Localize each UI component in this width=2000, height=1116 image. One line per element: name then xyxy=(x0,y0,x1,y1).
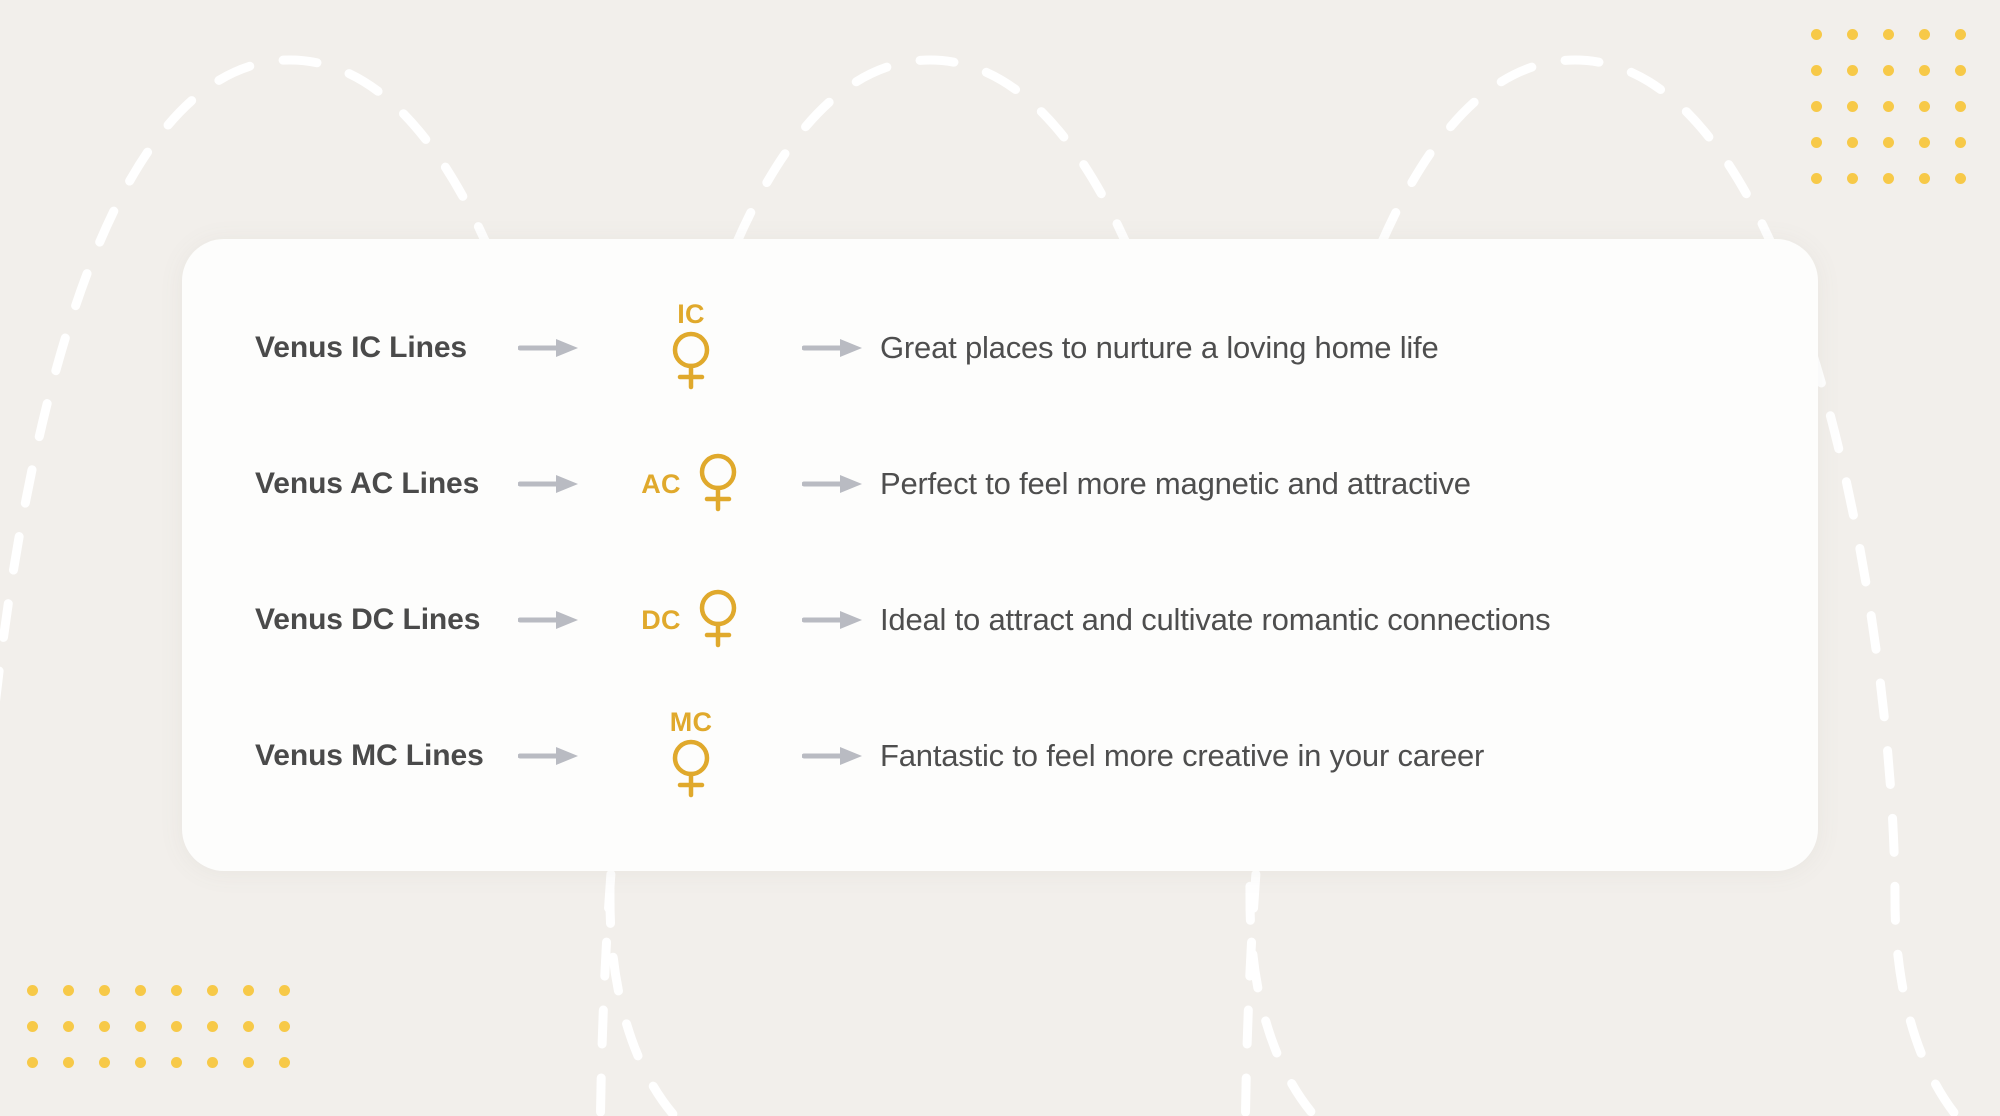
decorative-dot xyxy=(1811,65,1822,76)
decorative-dot xyxy=(99,985,110,996)
decorative-dot xyxy=(1847,29,1858,40)
decorative-dot xyxy=(1919,65,1930,76)
row-description-ac: Perfect to feel more magnetic and attrac… xyxy=(880,466,1471,502)
decorative-dot xyxy=(135,1021,146,1032)
decorative-dot xyxy=(135,985,146,996)
decorative-dot xyxy=(243,985,254,996)
decorative-dot xyxy=(1919,173,1930,184)
decorative-dot xyxy=(1919,101,1930,112)
row-label-mc: Venus MC Lines xyxy=(182,739,502,773)
decorative-dot xyxy=(279,1021,290,1032)
arrow-right-icon xyxy=(502,335,596,361)
dot-grid-top-right xyxy=(1798,16,1978,196)
row-label-ic: Venus IC Lines xyxy=(182,331,502,365)
arrow-right-icon xyxy=(502,607,596,633)
decorative-dot xyxy=(1883,65,1894,76)
row-label-ac: Venus AC Lines xyxy=(182,467,502,501)
table-row: Venus AC Lines AC xyxy=(182,416,1818,552)
decorative-dot xyxy=(27,1021,38,1032)
arrow-right-icon xyxy=(502,471,596,497)
decorative-dot xyxy=(63,985,74,996)
decorative-dot xyxy=(1883,101,1894,112)
glyph-cell-ic: IC xyxy=(596,301,786,396)
decorative-dot xyxy=(243,1021,254,1032)
angle-code-ac: AC xyxy=(641,471,681,498)
arrow-right-icon xyxy=(786,335,880,361)
decorative-dot xyxy=(27,985,38,996)
decorative-dot xyxy=(1919,137,1930,148)
row-description-mc: Fantastic to feel more creative in your … xyxy=(880,738,1484,774)
dot-grid-bottom-left xyxy=(14,972,302,1080)
table-row: Venus DC Lines DC xyxy=(182,552,1818,688)
decorative-dot xyxy=(1847,65,1858,76)
decorative-dot xyxy=(1811,173,1822,184)
venus-symbol-icon xyxy=(695,451,741,518)
angle-code-dc: DC xyxy=(641,607,681,634)
decorative-dot xyxy=(1955,137,1966,148)
decorative-dot xyxy=(99,1057,110,1068)
decorative-dot xyxy=(1955,29,1966,40)
decorative-dot xyxy=(171,1021,182,1032)
table-row: Venus MC Lines MC xyxy=(182,688,1818,824)
decorative-dot xyxy=(99,1021,110,1032)
arrow-right-icon xyxy=(502,743,596,769)
venus-lines-card: Venus IC Lines IC xyxy=(182,239,1818,871)
arrow-right-icon xyxy=(786,471,880,497)
decorative-dot xyxy=(1919,29,1930,40)
arrow-right-icon xyxy=(786,743,880,769)
decorative-dot xyxy=(63,1057,74,1068)
glyph-cell-ac: AC xyxy=(596,451,786,518)
decorative-dot xyxy=(63,1021,74,1032)
decorative-dot xyxy=(171,985,182,996)
decorative-dot xyxy=(27,1057,38,1068)
decorative-dot xyxy=(171,1057,182,1068)
row-label-dc: Venus DC Lines xyxy=(182,603,502,637)
decorative-dot xyxy=(1883,29,1894,40)
venus-symbol-icon xyxy=(668,329,714,396)
decorative-dot xyxy=(135,1057,146,1068)
venus-symbol-icon xyxy=(668,737,714,804)
arrow-right-icon xyxy=(786,607,880,633)
glyph-cell-mc: MC xyxy=(596,709,786,804)
angle-code-mc: MC xyxy=(670,709,713,736)
decorative-dot xyxy=(279,985,290,996)
decorative-dot xyxy=(1811,29,1822,40)
decorative-dot xyxy=(1811,137,1822,148)
decorative-dot xyxy=(279,1057,290,1068)
venus-symbol-icon xyxy=(695,587,741,654)
decorative-dot xyxy=(243,1057,254,1068)
decorative-dot xyxy=(1811,101,1822,112)
decorative-dot xyxy=(1883,137,1894,148)
decorative-dot xyxy=(1847,101,1858,112)
decorative-dot xyxy=(207,985,218,996)
glyph-cell-dc: DC xyxy=(596,587,786,654)
decorative-dot xyxy=(207,1021,218,1032)
row-description-ic: Great places to nurture a loving home li… xyxy=(880,330,1439,366)
angle-code-ic: IC xyxy=(677,301,705,328)
decorative-dot xyxy=(1847,173,1858,184)
decorative-dot xyxy=(1847,137,1858,148)
decorative-dot xyxy=(1955,173,1966,184)
decorative-dot xyxy=(1883,173,1894,184)
table-row: Venus IC Lines IC xyxy=(182,280,1818,416)
decorative-dot xyxy=(1955,65,1966,76)
decorative-dot xyxy=(207,1057,218,1068)
decorative-dot xyxy=(1955,101,1966,112)
row-description-dc: Ideal to attract and cultivate romantic … xyxy=(880,602,1550,638)
